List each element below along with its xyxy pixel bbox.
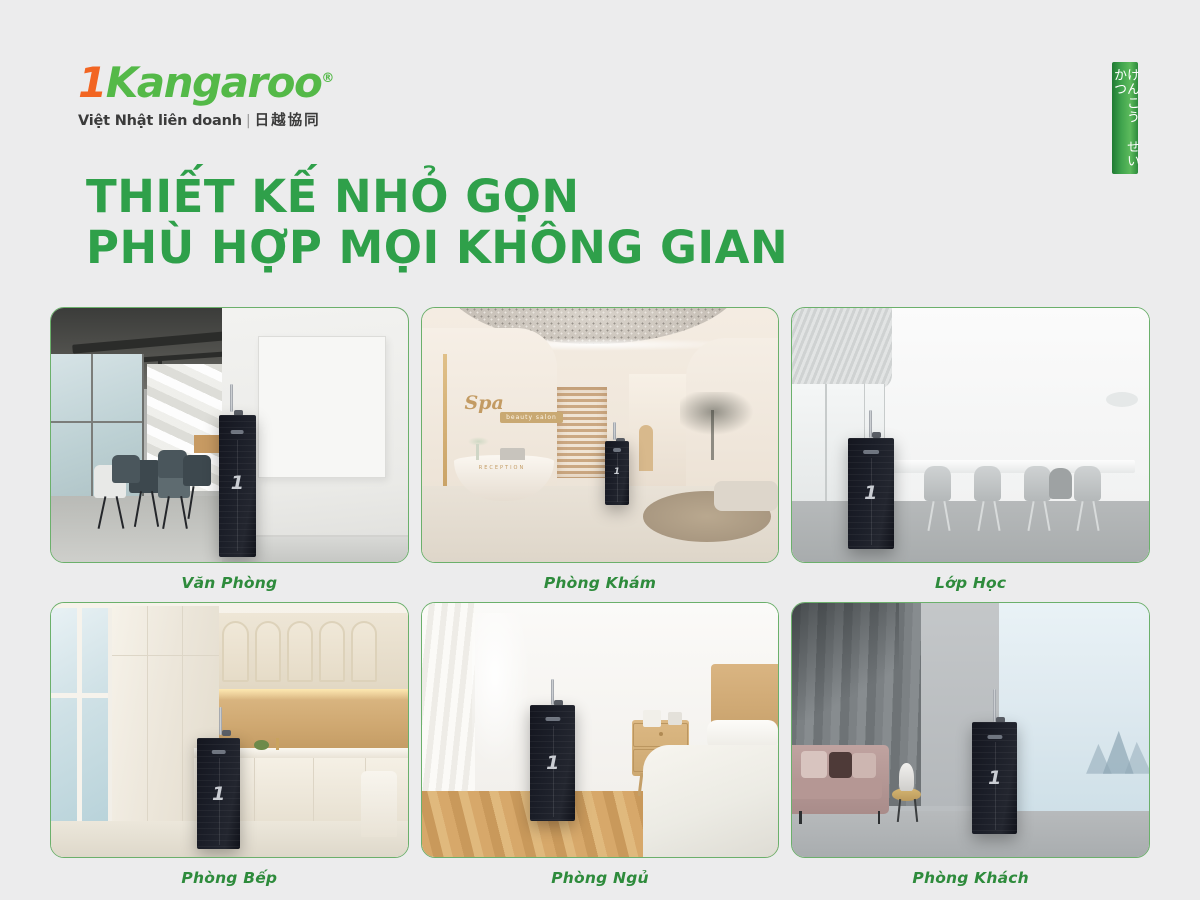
living-floor <box>792 811 1149 857</box>
gold-wall-trim <box>443 354 447 486</box>
decorative-brick-screen <box>557 387 607 478</box>
water-purifier-unit: 1 <box>530 705 575 822</box>
classroom-chair <box>1024 466 1051 502</box>
purifier-seam <box>871 458 872 545</box>
window-mullion <box>77 608 82 821</box>
purifier-number-badge: 1 <box>231 474 244 493</box>
faucet-decor <box>276 738 279 751</box>
sofa-leg <box>878 811 881 824</box>
sofa-seat <box>791 778 882 799</box>
purifier-brand-badge <box>545 717 560 721</box>
purifier-seam <box>553 726 554 817</box>
kitchen-window <box>51 608 112 821</box>
page-title-line-1: THIẾT KẾ NHỎ GỌN <box>86 172 788 223</box>
logo-kangaroo-text: Kangaroo <box>106 58 322 107</box>
purifier-brand-badge <box>211 750 226 754</box>
purifier-brand-badge <box>987 735 1002 739</box>
classroom-chair <box>924 466 951 502</box>
water-purifier-unit: 1 <box>605 441 628 505</box>
purifier-faucet-head <box>222 730 231 736</box>
purifier-number-badge: 1 <box>546 754 559 773</box>
logo-wordmark: 1Kangaroo® <box>78 62 318 104</box>
office-chair <box>112 455 141 483</box>
cabinet-door <box>287 621 313 682</box>
scene-classroom: 1 <box>792 308 1149 562</box>
cabinet-seam <box>254 758 255 822</box>
mountain-peak <box>1125 742 1150 774</box>
card-image-frame: 1 <box>791 602 1150 858</box>
card-caption: Phòng Bếp <box>50 858 409 887</box>
gallery-card-classroom[interactable]: 1 Lớp Học <box>791 307 1150 592</box>
purifier-number-badge: 1 <box>988 769 1001 788</box>
cabinet-door <box>222 621 248 682</box>
kangaroo-logo: 1Kangaroo® Việt Nhật liên doanh|日越協同 <box>78 62 318 130</box>
logo-one-digit: 1 <box>78 58 106 107</box>
purifier-brand-badge <box>613 448 621 452</box>
sofa-cushion <box>829 752 853 778</box>
indoor-tree <box>678 392 756 463</box>
reception-label: RECEPTION <box>479 465 526 471</box>
wall-shadow <box>792 603 899 720</box>
page-title-line-2: PHÙ HỢP MỌI KHÔNG GIAN <box>86 223 788 274</box>
page-title: THIẾT KẾ NHỎ GỌN PHÙ HỢP MỌI KHÔNG GIAN <box>86 172 788 274</box>
scene-clinic-spa: Spa beauty salon RECEPTION <box>422 308 779 562</box>
tagline-vietnamese: Việt Nhật liên doanh <box>78 113 242 129</box>
cabinet-seam <box>112 655 219 656</box>
purifier-faucet-stem <box>613 422 616 440</box>
sofa-cushion <box>801 751 827 778</box>
card-caption: Phòng Khách <box>791 858 1150 887</box>
purifier-seam <box>237 440 238 551</box>
card-image-frame: 1 <box>421 602 780 858</box>
purifier-brand-badge <box>231 430 244 434</box>
mug-icon <box>668 712 682 725</box>
bust-sculpture <box>899 763 913 791</box>
sofa-cushion <box>852 753 876 778</box>
gallery-card-bedroom[interactable]: 1 Phòng Ngủ <box>421 602 780 887</box>
bed <box>643 745 779 857</box>
tagline-separator: | <box>242 113 255 129</box>
scene-kitchen: 1 <box>51 603 408 857</box>
purifier-seam <box>617 453 618 503</box>
registered-trademark-icon: ® <box>321 71 333 86</box>
page-header: 1Kangaroo® Việt Nhật liên doanh|日越協同 けんこ… <box>0 0 1200 160</box>
window-transom <box>51 421 142 423</box>
under-cabinet-led <box>219 689 408 699</box>
spa-wall-logo: Spa <box>464 392 503 414</box>
purifier-number-badge: 1 <box>864 484 877 503</box>
window-curtain <box>422 603 476 791</box>
water-purifier-unit: 1 <box>972 722 1017 834</box>
gallery-card-living-room[interactable]: 1 Phòng Khách <box>791 602 1150 887</box>
sofa-leg <box>799 811 802 824</box>
gallery-card-kitchen[interactable]: 1 Phòng Bếp <box>50 602 409 887</box>
office-chair <box>183 455 212 485</box>
cabinet-door <box>351 621 377 682</box>
scene-office: 1 <box>51 308 408 562</box>
spa-wall-sublabel: beauty salon <box>500 412 563 423</box>
cabinet-seam <box>182 606 183 830</box>
wall-light-glow <box>472 613 529 765</box>
japanese-side-banner: けんこう せいかつ <box>1112 62 1138 174</box>
cabinet-seam <box>147 606 148 830</box>
purifier-seam <box>219 758 220 845</box>
vase-foliage <box>468 437 489 447</box>
upper-cabinets <box>219 613 408 689</box>
fruit-decor <box>254 740 268 750</box>
tagline-japanese: 日越協同 <box>255 113 321 129</box>
flower-vase <box>464 435 493 460</box>
living-sofa <box>791 745 888 814</box>
purifier-brand-badge <box>863 450 879 454</box>
room-gallery-grid: 1 Văn Phòng Spa beauty salon <box>50 307 1150 887</box>
mountain-view <box>1085 724 1149 774</box>
purifier-faucet-stem <box>230 384 233 412</box>
gallery-card-clinic[interactable]: Spa beauty salon RECEPTION <box>421 307 780 592</box>
card-caption: Phòng Ngủ <box>421 858 780 887</box>
water-purifier-unit: 1 <box>219 415 256 557</box>
kitchen-stool <box>361 771 397 837</box>
card-image-frame: 1 <box>791 307 1150 563</box>
laptop-icon <box>500 448 525 461</box>
card-image-frame: 1 <box>50 307 409 563</box>
classroom-chair <box>1049 468 1072 498</box>
purifier-number-badge: 1 <box>212 785 225 804</box>
wall-lamp-icon <box>1106 392 1138 407</box>
water-purifier-unit: 1 <box>197 738 240 850</box>
partition-mullion <box>825 384 827 506</box>
purifier-number-badge: 1 <box>614 468 620 477</box>
lounge-sofa <box>714 481 778 511</box>
water-purifier-unit: 1 <box>848 438 894 550</box>
card-caption: Lớp Học <box>791 563 1150 592</box>
classroom-ceiling-panel <box>792 308 892 389</box>
tree-canopy <box>680 392 755 436</box>
classroom-chair <box>1074 466 1101 502</box>
vase-stem <box>476 444 479 460</box>
scene-living-room: 1 <box>792 603 1149 857</box>
cabinet-door <box>255 621 281 682</box>
cabinet-door <box>319 621 345 682</box>
card-caption: Phòng Khám <box>421 563 780 592</box>
cabinet-seam <box>313 758 314 822</box>
corridor-archway <box>639 425 653 471</box>
purifier-seam <box>995 742 996 829</box>
wall-art-canvas <box>258 336 386 478</box>
card-image-frame: Spa beauty salon RECEPTION <box>421 307 780 563</box>
scene-bedroom: 1 <box>422 603 779 857</box>
logo-tagline: Việt Nhật liên doanh|日越協同 <box>78 109 318 130</box>
classroom-chair <box>974 466 1001 502</box>
card-caption: Văn Phòng <box>50 563 409 592</box>
gallery-card-office[interactable]: 1 Văn Phòng <box>50 307 409 592</box>
potted-plant <box>643 710 661 728</box>
japanese-banner-text: けんこう せいかつ <box>1112 68 1138 174</box>
card-image-frame: 1 <box>50 602 409 858</box>
